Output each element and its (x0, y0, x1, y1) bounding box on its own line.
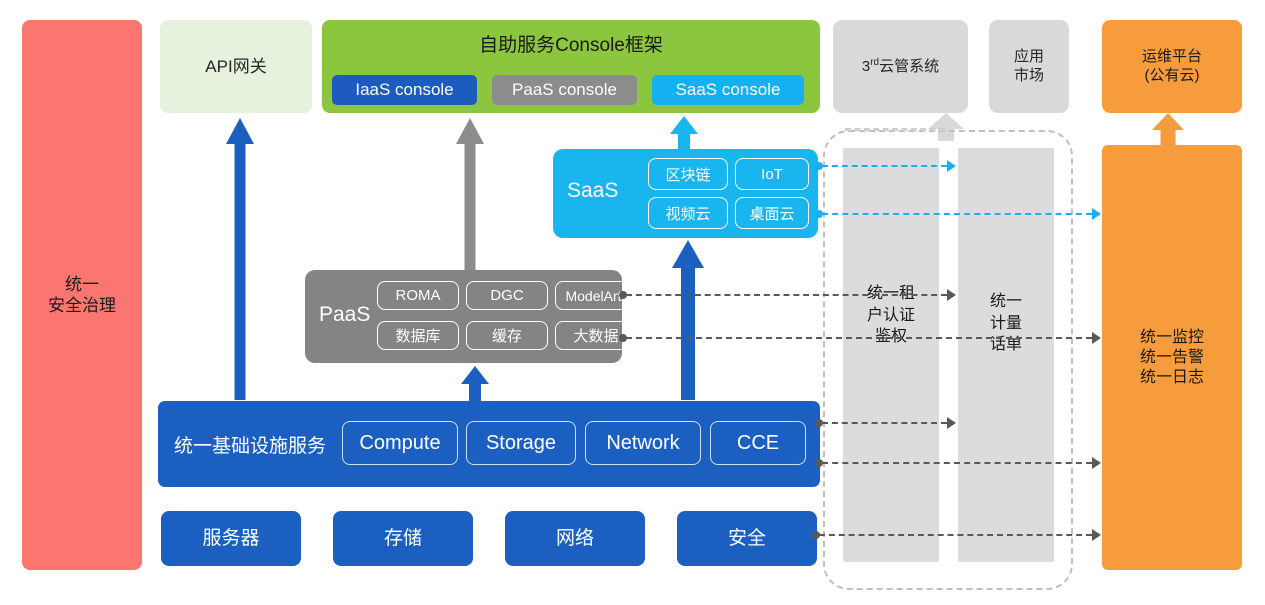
governance-line-1: 统一 (48, 274, 116, 295)
arrow-saas-to-console (670, 116, 698, 152)
ops-panel-line-2: 统一告警 (1140, 348, 1204, 368)
paas-console-label: PaaS console (512, 80, 617, 100)
connector-infra-to-ops (822, 462, 1092, 464)
console-title: 自助服务Console框架 (322, 30, 820, 57)
unified-metering-billing-label: 统一 计量 话单 (958, 291, 1054, 356)
connector-hardware-to-ops (819, 534, 1092, 536)
iaas-console-chip[interactable]: IaaS console (332, 75, 477, 105)
connector-saas-to-auth (822, 165, 947, 167)
paas-item-database[interactable]: 数据库 (377, 321, 459, 350)
app-market-line-2: 市场 (1014, 67, 1044, 86)
app-market-box: 应用 市场 (989, 20, 1069, 113)
connector-to-third-party-cloud (845, 128, 945, 131)
unified-tenant-auth-column (843, 148, 939, 562)
connector-arrowhead-infra-ops (1092, 457, 1101, 469)
connector-arrowhead-paas-auth (947, 289, 956, 301)
infra-item-compute[interactable]: Compute (342, 421, 458, 465)
paas-item-cache[interactable]: 缓存 (466, 321, 548, 350)
saas-console-label: SaaS console (676, 80, 781, 100)
arrow-infra-to-paas (461, 366, 489, 402)
hardware-network-box: 网络 (505, 511, 645, 566)
third-party-superscript: rd (870, 57, 879, 68)
connector-infra-to-auth (822, 422, 947, 424)
connector-paas-to-auth (626, 294, 947, 296)
paas-item-roma[interactable]: ROMA (377, 281, 459, 310)
infra-item-network[interactable]: Network (585, 421, 701, 465)
unified-infrastructure-bar: 统一基础设施服务 Compute Storage Network CCE (158, 401, 820, 487)
unified-ops-panel: 统一监控 统一告警 统一日志 (1102, 145, 1242, 570)
arrow-infra-to-api-gateway (226, 118, 254, 400)
connector-arrowhead-paas-ops (1092, 332, 1101, 344)
api-gateway-box: API网关 (160, 20, 312, 113)
saas-console-chip[interactable]: SaaS console (652, 75, 804, 105)
saas-label: SaaS (567, 179, 618, 203)
third-party-cloud-mgmt-box: 3rd云管系统 (833, 20, 968, 113)
infra-item-cce[interactable]: CCE (710, 421, 806, 465)
ops-platform-line-2: (公有云) (1142, 67, 1202, 86)
infrastructure-label: 统一基础设施服务 (174, 431, 326, 458)
saas-item-desktop-cloud[interactable]: 桌面云 (735, 197, 809, 229)
saas-item-blockchain[interactable]: 区块链 (648, 158, 728, 190)
hardware-server-box: 服务器 (161, 511, 301, 566)
arrow-paas-to-console (456, 118, 484, 270)
app-market-line-1: 应用 (1014, 48, 1044, 67)
ops-platform-line-1: 运维平台 (1142, 48, 1202, 67)
paas-item-dgc[interactable]: DGC (466, 281, 548, 310)
unified-security-governance-panel: 统一 安全治理 (22, 20, 142, 570)
api-gateway-label: API网关 (205, 56, 266, 77)
connector-arrowhead-hardware-ops (1092, 529, 1101, 541)
self-service-console-frame: 自助服务Console框架 IaaS console PaaS console … (322, 20, 820, 113)
ops-platform-box: 运维平台 (公有云) (1102, 20, 1242, 113)
architecture-diagram: 统一 安全治理 API网关 自助服务Console框架 IaaS console… (0, 0, 1265, 605)
connector-arrowhead-infra-auth (947, 417, 956, 429)
hardware-storage-box: 存储 (333, 511, 473, 566)
paas-service-box: PaaS ROMA DGC ModelArts 数据库 缓存 大数据 (305, 270, 622, 363)
arrow-ops-panel-to-platform (1152, 113, 1184, 145)
paas-console-chip[interactable]: PaaS console (492, 75, 637, 105)
iaas-console-label: IaaS console (355, 80, 453, 100)
paas-label: PaaS (319, 303, 370, 327)
hardware-security-box: 安全 (677, 511, 817, 566)
connector-saas-to-ops (822, 213, 1092, 215)
connector-paas-to-ops (626, 337, 1092, 339)
arrow-infra-to-saas (672, 240, 704, 400)
ops-panel-line-3: 统一日志 (1140, 368, 1204, 388)
governance-line-2: 安全治理 (48, 295, 116, 316)
connector-arrowhead-saas-ops (1092, 208, 1101, 220)
third-party-label: 3rd云管系统 (862, 57, 939, 77)
saas-item-video-cloud[interactable]: 视频云 (648, 197, 728, 229)
saas-item-iot[interactable]: IoT (735, 158, 809, 190)
saas-service-box: SaaS 区块链 IoT 视频云 桌面云 (553, 149, 818, 238)
connector-arrowhead-saas-auth (947, 160, 956, 172)
infra-item-storage[interactable]: Storage (466, 421, 576, 465)
ops-panel-line-1: 统一监控 (1140, 328, 1204, 348)
